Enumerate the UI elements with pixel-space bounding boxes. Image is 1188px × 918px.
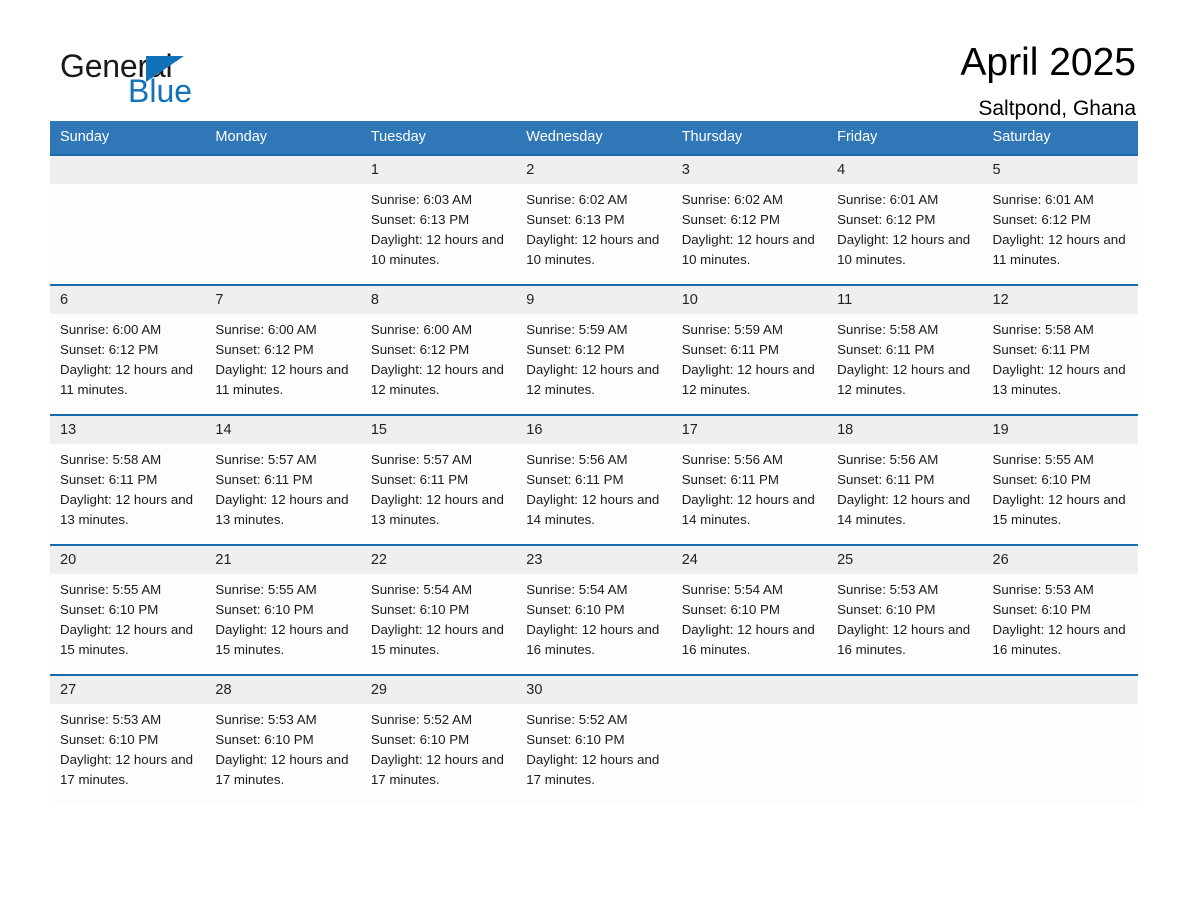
day-cell[interactable]: Sunrise: 5:58 AM Sunset: 6:11 PM Dayligh… [983,314,1138,414]
daylight-text: Daylight: 12 hours and 16 minutes. [837,620,970,660]
day-cell[interactable]: Sunrise: 5:59 AM Sunset: 6:12 PM Dayligh… [516,314,671,414]
daylight-text: Daylight: 12 hours and 11 minutes. [60,360,193,400]
day-number: 23 [516,546,671,574]
daylight-text: Daylight: 12 hours and 10 minutes. [837,230,970,270]
page-title: April 2025 [960,42,1136,84]
day-number: 15 [361,416,516,444]
day-number: 2 [516,156,671,184]
day-number: 3 [672,156,827,184]
location-subtitle: Saltpond, Ghana [960,93,1136,125]
sunrise-text: Sunrise: 5:54 AM [371,580,504,600]
calendar-grid: Sunday Monday Tuesday Wednesday Thursday… [50,121,1138,804]
day-cell[interactable]: Sunrise: 5:54 AM Sunset: 6:10 PM Dayligh… [516,574,671,674]
sunrise-text: Sunrise: 5:53 AM [993,580,1126,600]
day-cell[interactable]: Sunrise: 6:00 AM Sunset: 6:12 PM Dayligh… [361,314,516,414]
day-cell[interactable]: Sunrise: 5:53 AM Sunset: 6:10 PM Dayligh… [50,704,205,804]
daylight-text: Daylight: 12 hours and 10 minutes. [371,230,504,270]
day-number: 21 [205,546,360,574]
day-number: 4 [827,156,982,184]
day-details-band: Sunrise: 6:03 AM Sunset: 6:13 PM Dayligh… [50,184,1138,284]
sunrise-text: Sunrise: 5:52 AM [371,710,504,730]
daylight-text: Daylight: 12 hours and 14 minutes. [526,490,659,530]
sunrise-text: Sunrise: 5:52 AM [526,710,659,730]
sunrise-text: Sunrise: 6:02 AM [526,190,659,210]
sunrise-text: Sunrise: 5:58 AM [837,320,970,340]
day-number: 5 [983,156,1138,184]
day-cell[interactable]: Sunrise: 5:59 AM Sunset: 6:11 PM Dayligh… [672,314,827,414]
day-number: 30 [516,676,671,704]
sunrise-text: Sunrise: 5:59 AM [682,320,815,340]
sunset-text: Sunset: 6:10 PM [526,600,659,620]
calendar-week-row: 27 28 29 30 Sunrise: 5:53 AM Sunset: 6:1… [50,674,1138,804]
day-cell[interactable]: Sunrise: 5:54 AM Sunset: 6:10 PM Dayligh… [361,574,516,674]
sunset-text: Sunset: 6:10 PM [215,600,348,620]
day-number: 20 [50,546,205,574]
calendar-week-row: 6 7 8 9 10 11 12 Sunrise: 6:00 AM Sunset… [50,284,1138,414]
day-number: 22 [361,546,516,574]
sunrise-text: Sunrise: 5:55 AM [60,580,193,600]
sunset-text: Sunset: 6:11 PM [371,470,504,490]
day-number: 17 [672,416,827,444]
day-cell[interactable]: Sunrise: 5:56 AM Sunset: 6:11 PM Dayligh… [672,444,827,544]
weekday-header-thursday: Thursday [672,121,827,154]
day-details-band: Sunrise: 5:53 AM Sunset: 6:10 PM Dayligh… [50,704,1138,804]
daylight-text: Daylight: 12 hours and 12 minutes. [837,360,970,400]
day-number: 29 [361,676,516,704]
sunrise-text: Sunrise: 6:01 AM [837,190,970,210]
sunrise-text: Sunrise: 6:00 AM [215,320,348,340]
day-cell[interactable]: Sunrise: 5:53 AM Sunset: 6:10 PM Dayligh… [827,574,982,674]
sunrise-text: Sunrise: 5:54 AM [526,580,659,600]
day-number: 13 [50,416,205,444]
sunrise-text: Sunrise: 5:59 AM [526,320,659,340]
day-cell[interactable]: Sunrise: 5:57 AM Sunset: 6:11 PM Dayligh… [205,444,360,544]
sunrise-text: Sunrise: 5:55 AM [215,580,348,600]
sunrise-text: Sunrise: 6:01 AM [993,190,1126,210]
day-number: 1 [361,156,516,184]
daylight-text: Daylight: 12 hours and 14 minutes. [837,490,970,530]
day-cell-empty [827,704,982,804]
day-cell[interactable]: Sunrise: 6:00 AM Sunset: 6:12 PM Dayligh… [205,314,360,414]
sunset-text: Sunset: 6:10 PM [526,730,659,750]
day-cell-empty [672,704,827,804]
calendar-week-row: 20 21 22 23 24 25 26 Sunrise: 5:55 AM Su… [50,544,1138,674]
weekday-header-saturday: Saturday [983,121,1138,154]
sunrise-text: Sunrise: 5:58 AM [60,450,193,470]
day-cell[interactable]: Sunrise: 5:52 AM Sunset: 6:10 PM Dayligh… [516,704,671,804]
day-number: 9 [516,286,671,314]
day-number: 10 [672,286,827,314]
sunrise-text: Sunrise: 5:56 AM [837,450,970,470]
sunrise-text: Sunrise: 5:57 AM [215,450,348,470]
sunset-text: Sunset: 6:10 PM [371,730,504,750]
day-number: 27 [50,676,205,704]
sunset-text: Sunset: 6:12 PM [993,210,1126,230]
sunrise-text: Sunrise: 5:56 AM [526,450,659,470]
sunset-text: Sunset: 6:10 PM [215,730,348,750]
day-details-band: Sunrise: 5:58 AM Sunset: 6:11 PM Dayligh… [50,444,1138,544]
sunset-text: Sunset: 6:12 PM [682,210,815,230]
sunrise-text: Sunrise: 5:55 AM [993,450,1126,470]
sunset-text: Sunset: 6:12 PM [371,340,504,360]
day-cell-empty [983,704,1138,804]
sunrise-text: Sunrise: 5:53 AM [60,710,193,730]
day-number: 18 [827,416,982,444]
calendar-page: General Blue April 2025 Saltpond, Ghana … [0,0,1188,918]
sunset-text: Sunset: 6:11 PM [60,470,193,490]
daylight-text: Daylight: 12 hours and 15 minutes. [993,490,1126,530]
day-cell[interactable]: Sunrise: 5:56 AM Sunset: 6:11 PM Dayligh… [827,444,982,544]
sunset-text: Sunset: 6:10 PM [993,470,1126,490]
sunset-text: Sunset: 6:11 PM [837,470,970,490]
daylight-text: Daylight: 12 hours and 17 minutes. [371,750,504,790]
calendar-week-row: 1 2 3 4 5 Sunrise: 6:03 AM Sunset: 6:13 … [50,154,1138,284]
daylight-text: Daylight: 12 hours and 11 minutes. [215,360,348,400]
daylight-text: Daylight: 12 hours and 14 minutes. [682,490,815,530]
sunrise-text: Sunrise: 6:00 AM [60,320,193,340]
sunset-text: Sunset: 6:12 PM [215,340,348,360]
day-cell[interactable]: Sunrise: 5:55 AM Sunset: 6:10 PM Dayligh… [205,574,360,674]
day-number: 7 [205,286,360,314]
day-cell-empty [50,184,205,284]
daylight-text: Daylight: 12 hours and 13 minutes. [993,360,1126,400]
day-details-band: Sunrise: 6:00 AM Sunset: 6:12 PM Dayligh… [50,314,1138,414]
daylight-text: Daylight: 12 hours and 17 minutes. [215,750,348,790]
sunset-text: Sunset: 6:10 PM [60,730,193,750]
sunset-text: Sunset: 6:13 PM [526,210,659,230]
day-cell[interactable]: Sunrise: 6:02 AM Sunset: 6:13 PM Dayligh… [516,184,671,284]
sunset-text: Sunset: 6:12 PM [526,340,659,360]
sunset-text: Sunset: 6:10 PM [60,600,193,620]
daylight-text: Daylight: 12 hours and 11 minutes. [993,230,1126,270]
day-number: 26 [983,546,1138,574]
page-header: General Blue April 2025 Saltpond, Ghana [50,0,1138,110]
day-cell[interactable]: Sunrise: 6:01 AM Sunset: 6:12 PM Dayligh… [827,184,982,284]
sunrise-text: Sunrise: 6:03 AM [371,190,504,210]
sunrise-text: Sunrise: 5:53 AM [215,710,348,730]
day-cell-empty [205,184,360,284]
sunset-text: Sunset: 6:11 PM [837,340,970,360]
daylight-text: Daylight: 12 hours and 13 minutes. [215,490,348,530]
sunset-text: Sunset: 6:11 PM [682,470,815,490]
sunrise-text: Sunrise: 5:54 AM [682,580,815,600]
daylight-text: Daylight: 12 hours and 15 minutes. [60,620,193,660]
day-cell[interactable]: Sunrise: 6:03 AM Sunset: 6:13 PM Dayligh… [361,184,516,284]
day-number: 19 [983,416,1138,444]
daylight-text: Daylight: 12 hours and 16 minutes. [993,620,1126,660]
day-number-band: 13 14 15 16 17 18 19 [50,416,1138,444]
weekday-header-wednesday: Wednesday [516,121,671,154]
daylight-text: Daylight: 12 hours and 13 minutes. [60,490,193,530]
day-cell[interactable]: Sunrise: 5:53 AM Sunset: 6:10 PM Dayligh… [205,704,360,804]
day-number: 25 [827,546,982,574]
daylight-text: Daylight: 12 hours and 16 minutes. [526,620,659,660]
day-number: 16 [516,416,671,444]
title-block: April 2025 Saltpond, Ghana [960,42,1138,125]
sunset-text: Sunset: 6:13 PM [371,210,504,230]
sunset-text: Sunset: 6:11 PM [682,340,815,360]
sunset-text: Sunset: 6:11 PM [215,470,348,490]
daylight-text: Daylight: 12 hours and 15 minutes. [371,620,504,660]
day-number: 12 [983,286,1138,314]
weekday-header-row: Sunday Monday Tuesday Wednesday Thursday… [50,121,1138,154]
day-number: 24 [672,546,827,574]
day-number: 11 [827,286,982,314]
sunrise-text: Sunrise: 5:58 AM [993,320,1126,340]
day-number-band: 6 7 8 9 10 11 12 [50,286,1138,314]
day-number: 8 [361,286,516,314]
sunset-text: Sunset: 6:10 PM [682,600,815,620]
sunrise-text: Sunrise: 6:02 AM [682,190,815,210]
weekday-header-friday: Friday [827,121,982,154]
daylight-text: Daylight: 12 hours and 12 minutes. [526,360,659,400]
day-cell[interactable]: Sunrise: 5:58 AM Sunset: 6:11 PM Dayligh… [50,444,205,544]
daylight-text: Daylight: 12 hours and 10 minutes. [682,230,815,270]
day-number: 6 [50,286,205,314]
sunset-text: Sunset: 6:12 PM [837,210,970,230]
sunrise-text: Sunrise: 6:00 AM [371,320,504,340]
sunset-text: Sunset: 6:10 PM [837,600,970,620]
sunset-text: Sunset: 6:10 PM [993,600,1126,620]
day-cell[interactable]: Sunrise: 5:57 AM Sunset: 6:11 PM Dayligh… [361,444,516,544]
day-details-band: Sunrise: 5:55 AM Sunset: 6:10 PM Dayligh… [50,574,1138,674]
day-cell[interactable]: Sunrise: 5:52 AM Sunset: 6:10 PM Dayligh… [361,704,516,804]
day-cell[interactable]: Sunrise: 5:55 AM Sunset: 6:10 PM Dayligh… [983,444,1138,544]
sunset-text: Sunset: 6:12 PM [60,340,193,360]
day-cell[interactable]: Sunrise: 5:53 AM Sunset: 6:10 PM Dayligh… [983,574,1138,674]
daylight-text: Daylight: 12 hours and 17 minutes. [60,750,193,790]
daylight-text: Daylight: 12 hours and 12 minutes. [682,360,815,400]
sunset-text: Sunset: 6:11 PM [993,340,1126,360]
daylight-text: Daylight: 12 hours and 16 minutes. [682,620,815,660]
logo-text-blue: Blue [128,75,192,107]
sunset-text: Sunset: 6:11 PM [526,470,659,490]
daylight-text: Daylight: 12 hours and 15 minutes. [215,620,348,660]
weekday-header-tuesday: Tuesday [361,121,516,154]
day-number-band: 20 21 22 23 24 25 26 [50,546,1138,574]
calendar-week-row: 13 14 15 16 17 18 19 Sunrise: 5:58 AM Su… [50,414,1138,544]
day-cell[interactable]: Sunrise: 6:02 AM Sunset: 6:12 PM Dayligh… [672,184,827,284]
day-number-band: 1 2 3 4 5 [50,156,1138,184]
general-blue-logo[interactable]: General Blue [50,42,310,110]
day-cell[interactable]: Sunrise: 5:55 AM Sunset: 6:10 PM Dayligh… [50,574,205,674]
sunset-text: Sunset: 6:10 PM [371,600,504,620]
daylight-text: Daylight: 12 hours and 17 minutes. [526,750,659,790]
sunrise-text: Sunrise: 5:57 AM [371,450,504,470]
day-cell[interactable]: Sunrise: 5:56 AM Sunset: 6:11 PM Dayligh… [516,444,671,544]
day-cell[interactable]: Sunrise: 5:58 AM Sunset: 6:11 PM Dayligh… [827,314,982,414]
day-number: 28 [205,676,360,704]
sunrise-text: Sunrise: 5:56 AM [682,450,815,470]
weekday-header-monday: Monday [205,121,360,154]
daylight-text: Daylight: 12 hours and 12 minutes. [371,360,504,400]
sunrise-text: Sunrise: 5:53 AM [837,580,970,600]
day-number: 14 [205,416,360,444]
daylight-text: Daylight: 12 hours and 10 minutes. [526,230,659,270]
day-cell[interactable]: Sunrise: 5:54 AM Sunset: 6:10 PM Dayligh… [672,574,827,674]
weekday-header-sunday: Sunday [50,121,205,154]
day-cell[interactable]: Sunrise: 6:00 AM Sunset: 6:12 PM Dayligh… [50,314,205,414]
day-cell[interactable]: Sunrise: 6:01 AM Sunset: 6:12 PM Dayligh… [983,184,1138,284]
day-number-band: 27 28 29 30 [50,676,1138,704]
daylight-text: Daylight: 12 hours and 13 minutes. [371,490,504,530]
